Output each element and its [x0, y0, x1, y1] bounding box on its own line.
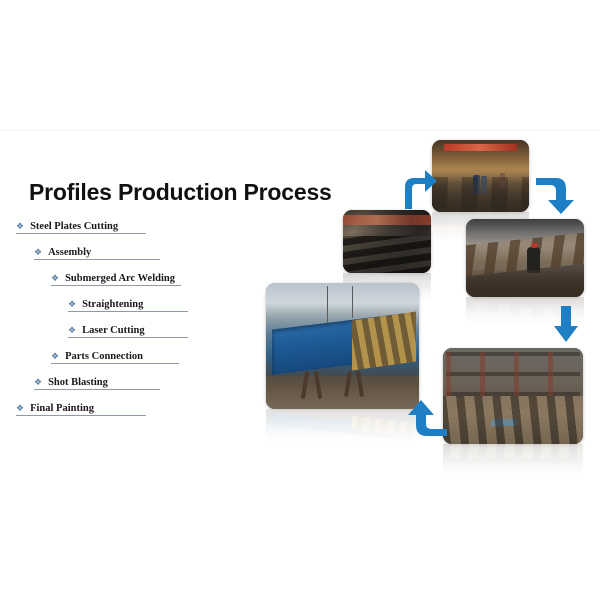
worker-figure [500, 173, 505, 188]
worker-hat [531, 243, 538, 248]
header-divider [0, 130, 600, 131]
photo-image [432, 140, 529, 212]
photo-reflection [266, 409, 419, 443]
list-item-label: Parts Connection [65, 350, 143, 363]
diamond-bullet-icon: ❖ [51, 350, 59, 363]
list-item-underline [51, 285, 181, 286]
diamond-bullet-icon: ❖ [51, 272, 59, 285]
photo-image [266, 283, 419, 409]
list-item-label: Final Painting [30, 402, 94, 415]
diamond-bullet-icon: ❖ [16, 402, 24, 415]
photo-image [343, 210, 431, 273]
arrow-workshop-to-beams [534, 172, 580, 220]
arrow-yard-to-workshop [398, 168, 440, 212]
list-item[interactable]: ❖Submerged Arc Welding [0, 270, 280, 296]
photo-warehouse-storage-racks[interactable] [443, 348, 583, 444]
list-item-label: Submerged Arc Welding [65, 272, 175, 285]
process-step-list: ❖Steel Plates Cutting ❖Assembly ❖Submerg… [0, 218, 280, 426]
photo-workshop-workers[interactable] [432, 140, 529, 212]
list-item-underline [68, 337, 188, 338]
list-item-underline [34, 259, 160, 260]
list-item[interactable]: ❖Steel Plates Cutting [0, 218, 280, 244]
photo-image [443, 348, 583, 444]
list-item[interactable]: ❖Final Painting [0, 400, 280, 426]
arrow-warehouse-to-blue [403, 396, 449, 442]
worker-figure [527, 247, 540, 273]
list-item[interactable]: ❖Straightening [0, 296, 280, 322]
diamond-bullet-icon: ❖ [16, 220, 24, 233]
list-item-label: Assembly [48, 246, 91, 259]
diamond-bullet-icon: ❖ [34, 246, 42, 259]
diamond-bullet-icon: ❖ [34, 376, 42, 389]
list-item-underline [34, 389, 160, 390]
list-item[interactable]: ❖Parts Connection [0, 348, 280, 374]
slide-canvas: Profiles Production Process ❖Steel Plate… [0, 0, 600, 600]
photo-image [466, 219, 584, 297]
list-item-underline [68, 311, 188, 312]
list-item-label: Shot Blasting [48, 376, 108, 389]
photo-beams-assembly-shed[interactable] [466, 219, 584, 297]
photo-blue-painted-beams[interactable] [266, 283, 419, 409]
list-item-label: Steel Plates Cutting [30, 220, 118, 233]
photo-reflection [443, 444, 583, 474]
list-item[interactable]: ❖Laser Cutting [0, 322, 280, 348]
list-item[interactable]: ❖Assembly [0, 244, 280, 270]
list-item-label: Straightening [82, 298, 143, 311]
diamond-bullet-icon: ❖ [68, 298, 76, 311]
crane-cable [327, 286, 328, 324]
worker-figure [473, 175, 480, 195]
list-item[interactable]: ❖Shot Blasting [0, 374, 280, 400]
list-item-underline [51, 363, 179, 364]
list-item-label: Laser Cutting [82, 324, 145, 337]
page-title: Profiles Production Process [29, 178, 332, 206]
list-item-underline [16, 233, 146, 234]
crane-cable [352, 286, 353, 319]
blue-tarp [489, 419, 518, 426]
photo-steel-plates-yard[interactable] [343, 210, 431, 273]
diamond-bullet-icon: ❖ [68, 324, 76, 337]
list-item-underline [16, 415, 146, 416]
arrow-beams-to-warehouse [553, 306, 579, 344]
worker-figure [481, 176, 487, 194]
